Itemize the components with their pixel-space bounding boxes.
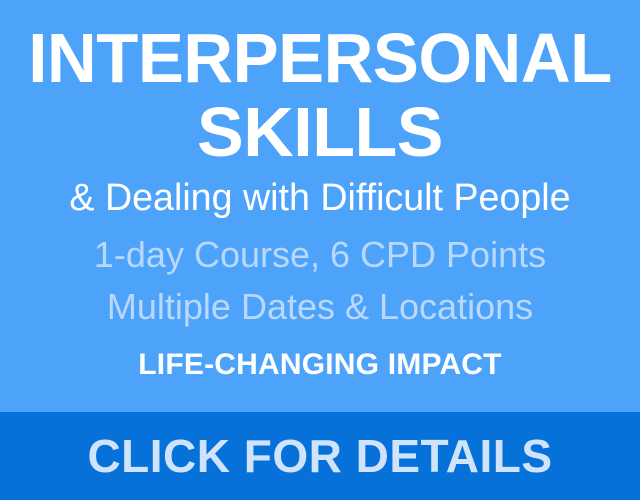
course-duration-credits: 1-day Course, 6 CPD Points [8,234,632,276]
subtitle: & Dealing with Difficult People [11,176,629,220]
course-dates-locations: Multiple Dates & Locations [8,286,632,328]
cta-button[interactable]: CLICK FOR DETAILS [0,412,640,500]
headline-secondary: SKILLS [8,96,632,168]
course-advertisement-banner[interactable]: INTERPERSONAL SKILLS & Dealing with Diff… [0,0,640,500]
promo-panel: INTERPERSONAL SKILLS & Dealing with Diff… [0,0,640,412]
headline-primary: INTERPERSONAL [13,22,628,94]
cta-button-label: CLICK FOR DETAILS [87,431,552,481]
tagline: LIFE-CHANGING IMPACT [8,348,632,382]
